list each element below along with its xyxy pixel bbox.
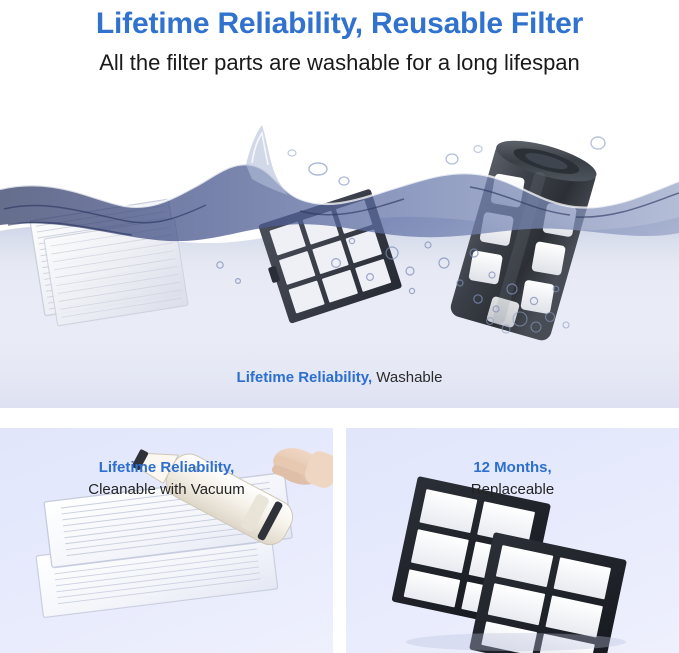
page-subtitle: All the filter parts are washable for a … — [0, 50, 679, 76]
panel-title-right: 12 Months, Replaceable — [346, 458, 679, 500]
panel-title-highlight-left: Lifetime Reliability, — [0, 458, 333, 478]
panel-cleanable-with-vacuum: Lifetime Reliability, Cleanable with Vac… — [0, 428, 333, 653]
header: Lifetime Reliability, Reusable Filter Al… — [0, 0, 679, 77]
water-splash-illustration — [0, 113, 679, 408]
panel-title-left: Lifetime Reliability, Cleanable with Vac… — [0, 458, 333, 500]
panel-12-months-replaceable: 12 Months, Replaceable — [346, 428, 679, 653]
filter-shadow — [406, 633, 626, 651]
hero-caption-rest: Washable — [372, 369, 442, 386]
hero-image — [0, 113, 679, 408]
hero-caption-highlight: Lifetime Reliability, — [237, 369, 373, 386]
panel-title-rest-right: Replaceable — [346, 480, 679, 500]
product-feature-image: Lifetime Reliability, Reusable Filter Al… — [0, 0, 679, 653]
feature-panels: Lifetime Reliability, Cleanable with Vac… — [0, 428, 679, 653]
panel-title-highlight-right: 12 Months, — [346, 458, 679, 478]
page-title: Lifetime Reliability, Reusable Filter — [0, 6, 679, 41]
hero-caption: Lifetime Reliability, Washable — [0, 370, 679, 385]
panel-title-rest-left: Cleanable with Vacuum — [0, 480, 333, 500]
